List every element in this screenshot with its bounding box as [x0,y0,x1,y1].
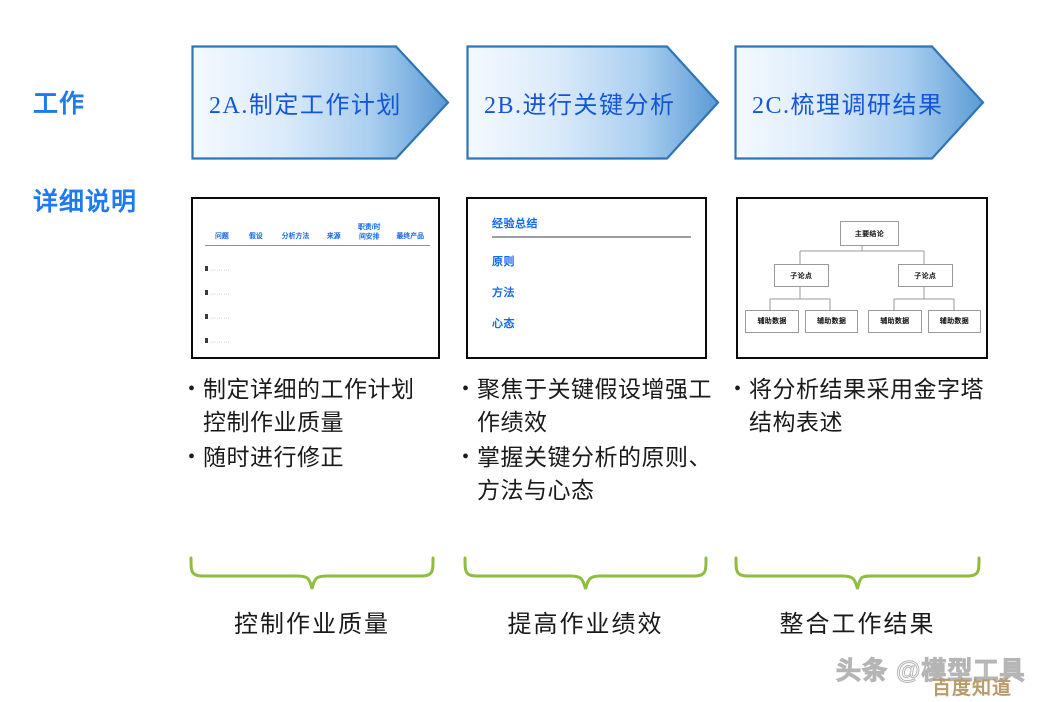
list-item: 将分析结果采用金字塔结构表述 [734,373,986,439]
chevron-stage-2c[interactable]: 2C.梳理调研结果 [734,45,985,160]
chevron-label: 2B.进行关键分析 [466,85,720,120]
brace-stage-2a [188,556,436,602]
panel-work-plan-table: 问题 假设 分析方法 来源 职责/时间安排 最终产品 ……… ……… [191,197,440,359]
pyramid-root-node: 主要结论 [840,221,900,246]
panel-experience-summary: 经验总结 原则 方法 心态 [466,197,707,359]
list-item: 随时进行修正 [188,441,436,474]
list-item: 原则 [492,253,691,269]
pyramid-sub-node: 子论点 [774,264,829,288]
list-item: 掌握关键分析的原则、方法与心态 [462,441,712,507]
row-bullet-icon [205,314,208,319]
table-row: ……… [205,256,430,280]
mini-table-body: ……… ……… ……… ……… [205,256,430,352]
curly-brace-icon [188,556,436,602]
pyramid-leaf-node: 辅助数据 [805,310,858,334]
experience-divider [492,236,691,238]
pyramid-leaf-node: 辅助数据 [928,310,981,334]
brace-stage-2c [733,556,982,602]
brace-caption-stage-2b: 提高作业绩效 [462,604,709,639]
mini-table-header-rule [205,245,430,246]
pyramid-leaf-node: 辅助数据 [868,310,921,334]
pyramid-leaf-node: 辅助数据 [745,310,798,334]
row-label-detail: 详细说明 [33,182,137,218]
experience-list: 经验总结 原则 方法 心态 [492,215,691,331]
row-placeholder: ……… [210,265,230,272]
table-row: ……… [205,328,430,352]
row-placeholder: ……… [210,337,230,344]
experience-title: 经验总结 [492,215,691,231]
bullet-list-stage-2b: 聚焦于关键假设增强工作绩效 掌握关键分析的原则、方法与心态 [462,373,712,509]
watermark-baidu: 百度知道 [932,673,1012,700]
curly-brace-icon [733,556,982,602]
row-bullet-icon [205,266,208,271]
list-item: 方法 [492,284,691,300]
table-row: ……… [205,304,430,328]
chevron-label: 2A.制定工作计划 [191,85,450,120]
row-bullet-icon [205,338,208,343]
chevron-stage-2b[interactable]: 2B.进行关键分析 [466,45,720,160]
table-row: ……… [205,280,430,304]
list-item: 制定详细的工作计划控制作业质量 [188,373,436,439]
curly-brace-icon [462,556,709,602]
chevron-stage-2a[interactable]: 2A.制定工作计划 [191,45,450,160]
bullet-list-stage-2a: 制定详细的工作计划控制作业质量 随时进行修正 [188,373,436,476]
brace-caption-stage-2a: 控制作业质量 [188,604,436,639]
pyramid-sub-node: 子论点 [898,264,953,288]
mini-table-header-row: 问题 假设 分析方法 来源 职责/时间安排 最终产品 [205,211,430,241]
row-bullet-icon [205,290,208,295]
mini-table: 问题 假设 分析方法 来源 职责/时间安排 最终产品 ……… ……… [205,211,430,352]
row-placeholder: ……… [210,313,230,320]
panel-pyramid-tree: 主要结论 子论点 子论点 辅助数据 辅助数据 辅助数据 辅助数据 [736,197,988,359]
list-item: 聚焦于关键假设增强工作绩效 [462,373,712,439]
row-label-work: 工作 [33,84,85,120]
list-item: 心态 [492,315,691,331]
brace-stage-2b [462,556,709,602]
slide-canvas: 工作 详细说明 2A.制定工作计划 [0,0,1054,702]
pyramid-diagram: 主要结论 子论点 子论点 辅助数据 辅助数据 辅助数据 辅助数据 [738,199,986,357]
mini-table-th-5: 最终产品 [383,232,436,241]
row-placeholder: ……… [210,289,230,296]
chevron-label: 2C.梳理调研结果 [734,85,985,120]
brace-caption-stage-2c: 整合工作结果 [733,604,982,639]
bullet-list-stage-2c: 将分析结果采用金字塔结构表述 [734,373,986,441]
